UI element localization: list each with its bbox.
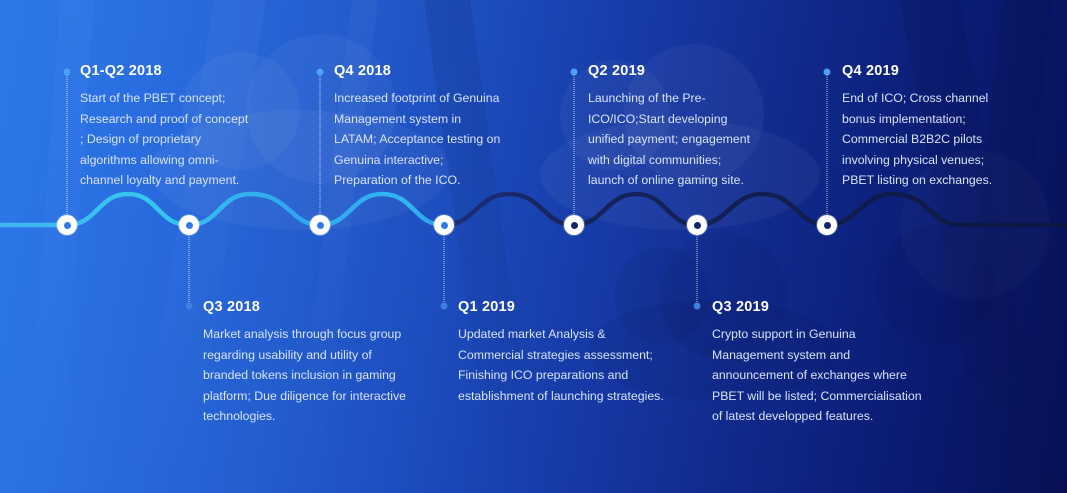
milestone-title: Q2 2019 [588, 63, 838, 79]
timeline-node-q4-2019[interactable] [817, 215, 837, 235]
connector-tip-q4-2019 [824, 69, 831, 76]
roadmap-timeline: Q1-Q2 2018 Start of the PBET concept; Re… [0, 0, 1067, 493]
timeline-node-q1-2019[interactable] [434, 215, 454, 235]
milestone-body: Increased footprint of Genuina Managemen… [334, 88, 574, 191]
connector-stem-q1-q2-2018 [67, 72, 68, 216]
milestone-card-q3-2018: Q3 2018 Market analysis through focus gr… [203, 299, 463, 427]
milestone-card-q2-2019: Q2 2019 Launching of the Pre- ICO/ICO;St… [588, 63, 838, 191]
timeline-node-q3-2018[interactable] [179, 215, 199, 235]
node-core [571, 222, 578, 229]
connector-stem-q3-2018 [189, 234, 190, 306]
connector-tip-q3-2018 [186, 303, 193, 310]
milestone-title: Q3 2018 [203, 299, 463, 315]
connector-tip-q2-2019 [571, 69, 578, 76]
milestone-body: Updated market Analysis & Commercial str… [458, 324, 728, 406]
node-core [824, 222, 831, 229]
connector-tip-q1-2019 [441, 303, 448, 310]
milestone-body: End of ICO; Cross channel bonus implemen… [842, 88, 1057, 191]
timeline-node-q3-2019[interactable] [687, 215, 707, 235]
connector-stem-q4-2018 [320, 72, 321, 216]
milestone-title: Q1 2019 [458, 299, 728, 315]
milestone-card-q1-2019: Q1 2019 Updated market Analysis & Commer… [458, 299, 728, 406]
milestone-card-q4-2019: Q4 2019 End of ICO; Cross channel bonus … [842, 63, 1057, 191]
timeline-node-q1-q2-2018[interactable] [57, 215, 77, 235]
milestone-title: Q4 2018 [334, 63, 574, 79]
connector-stem-q3-2019 [697, 234, 698, 306]
connector-tip-q3-2019 [694, 303, 701, 310]
connector-tip-q1-q2-2018 [64, 69, 71, 76]
milestone-card-q4-2018: Q4 2018 Increased footprint of Genuina M… [334, 63, 574, 191]
timeline-node-q4-2018[interactable] [310, 215, 330, 235]
node-core [64, 222, 71, 229]
connector-stem-q4-2019 [827, 72, 828, 216]
milestone-title: Q1-Q2 2018 [80, 63, 320, 79]
node-core [317, 222, 324, 229]
milestone-body: Launching of the Pre- ICO/ICO;Start deve… [588, 88, 838, 191]
connector-tip-q4-2018 [317, 69, 324, 76]
node-core [186, 222, 193, 229]
milestone-title: Q4 2019 [842, 63, 1057, 79]
wave-path [0, 194, 1067, 225]
milestone-card-q1-q2-2018: Q1-Q2 2018 Start of the PBET concept; Re… [80, 63, 320, 191]
timeline-node-q2-2019[interactable] [564, 215, 584, 235]
node-core [441, 222, 448, 229]
milestone-body: Crypto support in Genuina Management sys… [712, 324, 982, 427]
node-core [694, 222, 701, 229]
connector-stem-q2-2019 [574, 72, 575, 216]
milestone-card-q3-2019: Q3 2019 Crypto support in Genuina Manage… [712, 299, 982, 427]
connector-stem-q1-2019 [444, 234, 445, 306]
milestone-body: Start of the PBET concept; Research and … [80, 88, 320, 191]
milestone-body: Market analysis through focus group rega… [203, 324, 463, 427]
milestone-title: Q3 2019 [712, 299, 982, 315]
